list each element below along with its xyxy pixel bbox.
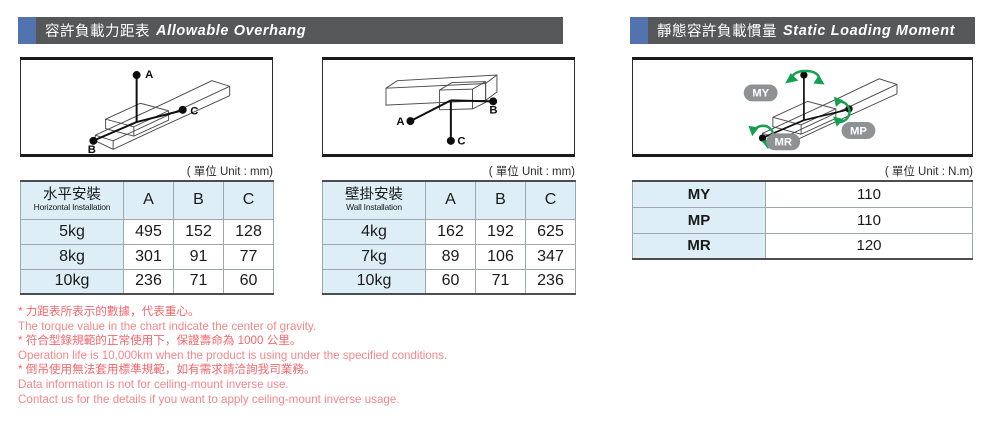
cell-a: 60 — [426, 269, 476, 294]
cell-c: 236 — [526, 269, 576, 294]
horizontal-installation-table: 水平安裝 Horizontal Installation A B C 5kg 4… — [20, 180, 274, 295]
figure-label-a: A — [145, 69, 153, 81]
section-header-static-loading-moment: 靜態容許負載慣量 Static Loading Moment — [630, 17, 975, 44]
table-row: 5kg 495 152 128 — [21, 219, 274, 244]
table-row: 7kg 89 106 347 — [323, 244, 576, 269]
table-row: 10kg 60 71 236 — [323, 269, 576, 294]
footnote-line: * 符合型錄規範的正常使用下，保證壽命為 1000 公里。 — [18, 334, 638, 349]
header-cell-installation: 壁掛安裝 Wall Installation — [323, 181, 426, 219]
header-cell-c: C — [526, 181, 576, 219]
figure-label-b: B — [489, 105, 497, 117]
cell-c: 625 — [526, 219, 576, 244]
header-en: Wall Installation — [323, 203, 425, 213]
header-bar: 容許負載力距表 Allowable Overhang — [36, 17, 563, 44]
row-label: 10kg — [323, 269, 426, 294]
static-loading-moment-diagram: MY MP MR — [632, 57, 973, 157]
cell-b: 152 — [174, 219, 224, 244]
unit-caption-nm: ( 單位 Unit : N.m) — [632, 163, 973, 179]
header-cell-installation: 水平安裝 Horizontal Installation — [21, 181, 124, 219]
table-row: MR 120 — [633, 233, 973, 259]
header-accent-square — [630, 17, 648, 44]
spec-sheet-page: 容許負載力距表 Allowable Overhang 靜態容許負載慣量 Stat… — [0, 0, 993, 425]
row-label-my: MY — [633, 181, 766, 207]
table-header-row: 水平安裝 Horizontal Installation A B C — [21, 181, 274, 219]
footnote-line: Operation life is 10,000km when the prod… — [18, 349, 638, 364]
table-row: 4kg 162 192 625 — [323, 219, 576, 244]
wall-installation-table: 壁掛安裝 Wall Installation A B C 4kg 162 192… — [322, 180, 576, 295]
table-row: 10kg 236 71 60 — [21, 269, 274, 294]
footnotes: * 力距表所表示的數據，代表重心。 The torque value in th… — [18, 305, 638, 407]
moment-label-my: MY — [744, 84, 778, 101]
footnote-line: * 倒吊使用無法套用標準規範，如有需求請洽詢我司業務。 — [18, 363, 638, 378]
table-row: 8kg 301 91 77 — [21, 244, 274, 269]
header-cell-b: B — [174, 181, 224, 219]
row-label-mp: MP — [633, 207, 766, 233]
row-label: 5kg — [21, 219, 124, 244]
horizontal-installation-diagram: A B C — [20, 57, 273, 157]
header-cell-b: B — [476, 181, 526, 219]
cell-b: 192 — [476, 219, 526, 244]
cell-a: 495 — [124, 219, 174, 244]
unit-caption-mm: ( 單位 Unit : mm) — [20, 163, 273, 179]
row-label: 7kg — [323, 244, 426, 269]
table-row: MP 110 — [633, 207, 973, 233]
table-header-row: 壁掛安裝 Wall Installation A B C — [323, 181, 576, 219]
figure-label-c: C — [190, 106, 198, 118]
moment-label-mr: MR — [766, 133, 800, 150]
footnote-line: Contact us for the details if you want t… — [18, 393, 638, 408]
cell-a: 89 — [426, 244, 476, 269]
svg-text:MR: MR — [774, 137, 792, 149]
cell-c: 128 — [224, 219, 274, 244]
cell-b: 91 — [174, 244, 224, 269]
row-label-mr: MR — [633, 233, 766, 259]
svg-text:MP: MP — [850, 125, 867, 137]
unit-caption-mm: ( 單位 Unit : mm) — [322, 163, 575, 179]
header-accent-square — [18, 17, 36, 44]
table-row: MY 110 — [633, 181, 973, 207]
footnote-line: The torque value in the chart indicate t… — [18, 320, 638, 335]
section-title-cn: 靜態容許負載慣量 — [657, 20, 777, 41]
cell-c: 60 — [224, 269, 274, 294]
header-cell-a: A — [124, 181, 174, 219]
section-header-allowable-overhang: 容許負載力距表 Allowable Overhang — [18, 17, 563, 44]
header-cell-c: C — [224, 181, 274, 219]
row-label: 8kg — [21, 244, 124, 269]
cell-b: 106 — [476, 244, 526, 269]
footnote-line: Data information is not for ceiling-moun… — [18, 378, 638, 393]
header-cell-a: A — [426, 181, 476, 219]
section-title-en: Static Loading Moment — [783, 23, 955, 39]
header-en: Horizontal Installation — [21, 203, 123, 213]
row-label: 10kg — [21, 269, 124, 294]
cell-a: 236 — [124, 269, 174, 294]
row-value-mp: 110 — [766, 207, 973, 233]
cell-c: 77 — [224, 244, 274, 269]
header-cn: 壁掛安裝 — [323, 188, 425, 203]
section-title-en: Allowable Overhang — [156, 23, 306, 39]
row-value-my: 110 — [766, 181, 973, 207]
cell-b: 71 — [476, 269, 526, 294]
row-value-mr: 120 — [766, 233, 973, 259]
cell-a: 162 — [426, 219, 476, 244]
figure-label-c: C — [457, 136, 465, 148]
static-loading-moment-table: MY 110 MP 110 MR 120 — [632, 180, 973, 260]
header-cn: 水平安裝 — [21, 188, 123, 203]
footnote-line: * 力距表所表示的數據，代表重心。 — [18, 305, 638, 320]
header-bar: 靜態容許負載慣量 Static Loading Moment — [648, 17, 975, 44]
figure-label-b: B — [88, 144, 96, 154]
cell-c: 347 — [526, 244, 576, 269]
section-title-cn: 容許負載力距表 — [45, 20, 150, 41]
cell-a: 301 — [124, 244, 174, 269]
cell-b: 71 — [174, 269, 224, 294]
row-label: 4kg — [323, 219, 426, 244]
wall-installation-diagram: A B C — [322, 57, 575, 157]
svg-text:MY: MY — [752, 88, 769, 100]
moment-label-mp: MP — [842, 122, 876, 139]
figure-label-a: A — [396, 116, 404, 128]
